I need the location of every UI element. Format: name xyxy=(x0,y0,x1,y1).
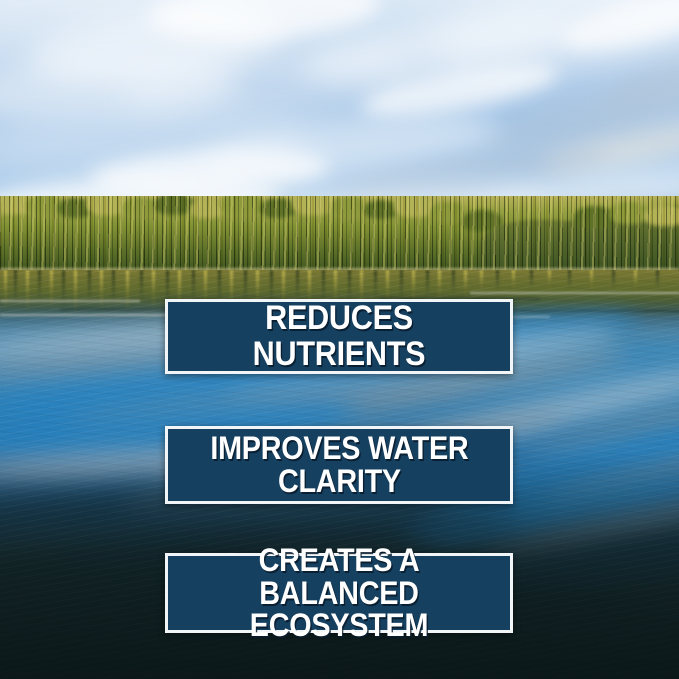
tree-reflection xyxy=(480,270,483,294)
tree-reflection xyxy=(38,270,41,300)
cloud-wisp xyxy=(148,0,382,48)
cloud-wisp xyxy=(0,0,260,80)
callout-label-improves-water-clarity: IMPROVES WATER CLARITY xyxy=(210,432,468,498)
cloud-wisp xyxy=(598,30,679,121)
tree-highlight-texture xyxy=(0,196,679,274)
callout-inner-frame: REDUCES NUTRIENTS xyxy=(178,306,500,367)
cloud-wisp xyxy=(0,104,311,182)
water-wave xyxy=(521,387,679,470)
tree-reflection xyxy=(512,270,515,292)
tree-reflection xyxy=(452,270,455,294)
cloud-wisp xyxy=(557,0,679,61)
tree-reflection xyxy=(530,270,533,288)
cloud-wisp xyxy=(297,0,582,97)
callout-creates-balanced-ecosystem[interactable]: CREATES A BALANCED ECOSYSTEM xyxy=(165,553,513,633)
callout-reduces-nutrients[interactable]: REDUCES NUTRIENTS xyxy=(165,299,513,374)
tree-reflection xyxy=(634,270,637,292)
tree-reflection xyxy=(348,270,351,302)
tree-reflection xyxy=(4,270,7,310)
cloud-wisp xyxy=(89,144,331,201)
tree-reflection xyxy=(192,270,195,300)
water-ripple xyxy=(470,292,679,294)
tree-reflection xyxy=(126,270,129,312)
tree-reflection xyxy=(496,270,499,290)
tree-reflection xyxy=(88,270,91,302)
cloud-wisp xyxy=(0,51,241,128)
callout-inner-frame: CREATES A BALANCED ECOSYSTEM xyxy=(178,560,500,626)
tree-reflection xyxy=(50,270,53,308)
tree-reflection xyxy=(14,270,17,304)
tree-reflection xyxy=(400,270,403,300)
tree-reflection xyxy=(152,270,155,308)
tree-reflection xyxy=(140,270,143,300)
cloud-wisp xyxy=(358,53,562,127)
cloud-wisp xyxy=(478,70,679,167)
cloud-wisp xyxy=(27,0,293,93)
tree-reflection xyxy=(548,270,551,290)
callout-label-reduces-nutrients: REDUCES NUTRIENTS xyxy=(196,301,482,371)
cloud-wisp xyxy=(539,111,679,183)
cloud-wisp xyxy=(118,37,423,133)
water-ripple xyxy=(0,300,140,302)
tree-reflection xyxy=(244,270,247,302)
tree-reflection xyxy=(568,270,571,288)
tree-reflection xyxy=(590,270,593,292)
water-wave xyxy=(541,440,679,513)
callout-inner-frame: IMPROVES WATER CLARITY xyxy=(178,433,500,497)
water-ripple xyxy=(520,310,679,312)
forest-treeline xyxy=(0,196,679,274)
tree-reflection xyxy=(26,270,29,312)
tree-reflection xyxy=(296,270,299,300)
tree-reflection xyxy=(612,270,615,288)
tree-reflection xyxy=(464,270,467,300)
callout-improves-water-clarity[interactable]: IMPROVES WATER CLARITY xyxy=(165,426,513,504)
tree-reflection xyxy=(100,270,103,310)
callout-label-creates-balanced-ecosystem: CREATES A BALANCED ECOSYSTEM xyxy=(196,544,482,643)
tree-reflection xyxy=(374,270,377,298)
infographic-canvas: REDUCES NUTRIENTS IMPROVES WATER CLARITY… xyxy=(0,0,679,679)
tree-reflection xyxy=(112,270,115,304)
tree-reflection xyxy=(656,270,659,288)
cloud-wisp xyxy=(424,0,679,95)
tree-reflection xyxy=(426,270,429,296)
cloud-wisp xyxy=(198,102,502,187)
